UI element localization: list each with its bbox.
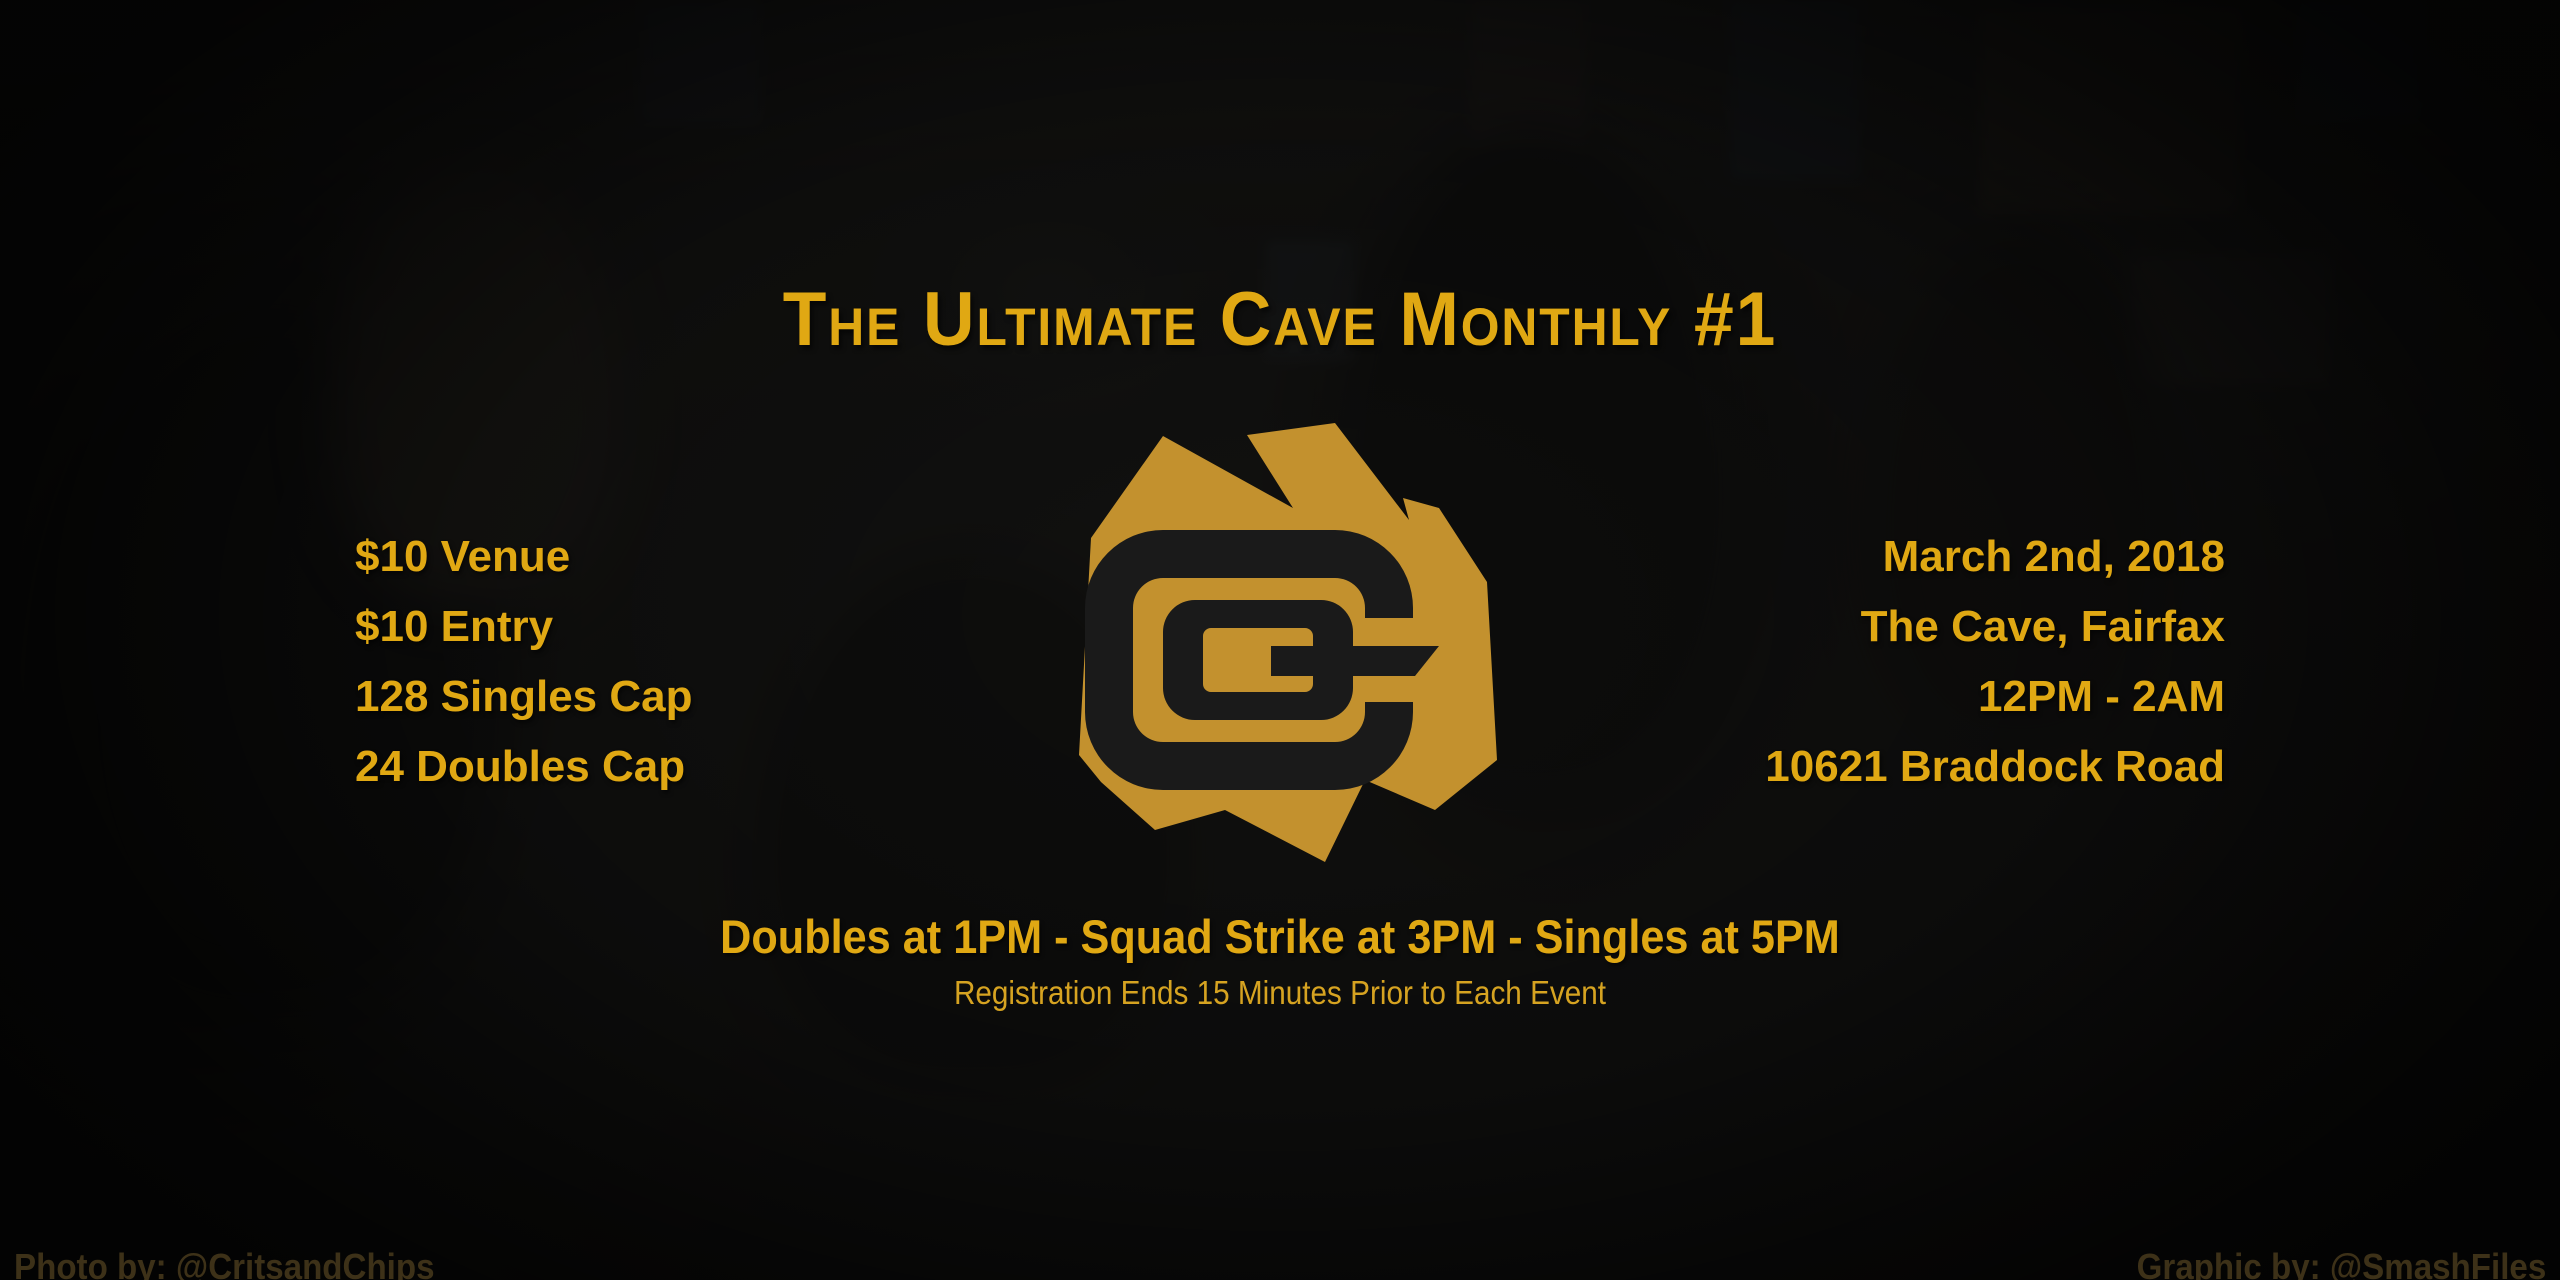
detail-address: 10621 Braddock Road [1765, 732, 2225, 802]
cave-monogram-icon [1035, 410, 1525, 875]
graphic-credit: Graphic by: @SmashFiles [2136, 1248, 2546, 1280]
photo-credit: Photo by: @CritsandChips [14, 1248, 435, 1280]
detail-singles-cap: 128 Singles Cap [355, 662, 692, 732]
the-cave-logo [1035, 410, 1525, 875]
detail-doubles-cap: 24 Doubles Cap [355, 732, 692, 802]
detail-entry-fee: $10 Entry [355, 592, 692, 662]
detail-venue: The Cave, Fairfax [1765, 592, 2225, 662]
page-title: The Ultimate Cave Monthly #1 [77, 282, 2483, 358]
detail-date: March 2nd, 2018 [1765, 522, 2225, 592]
detail-hours: 12PM - 2AM [1765, 662, 2225, 732]
event-details-right: March 2nd, 2018 The Cave, Fairfax 12PM -… [1765, 522, 2225, 802]
schedule-line: Doubles at 1PM - Squad Strike at 3PM - S… [102, 912, 2457, 963]
detail-venue-fee: $10 Venue [355, 522, 692, 592]
event-flyer: The Ultimate Cave Monthly #1 $10 Venue $… [0, 0, 2560, 1280]
event-details-left: $10 Venue $10 Entry 128 Singles Cap 24 D… [355, 522, 692, 802]
registration-note: Registration Ends 15 Minutes Prior to Ea… [128, 975, 2432, 1011]
